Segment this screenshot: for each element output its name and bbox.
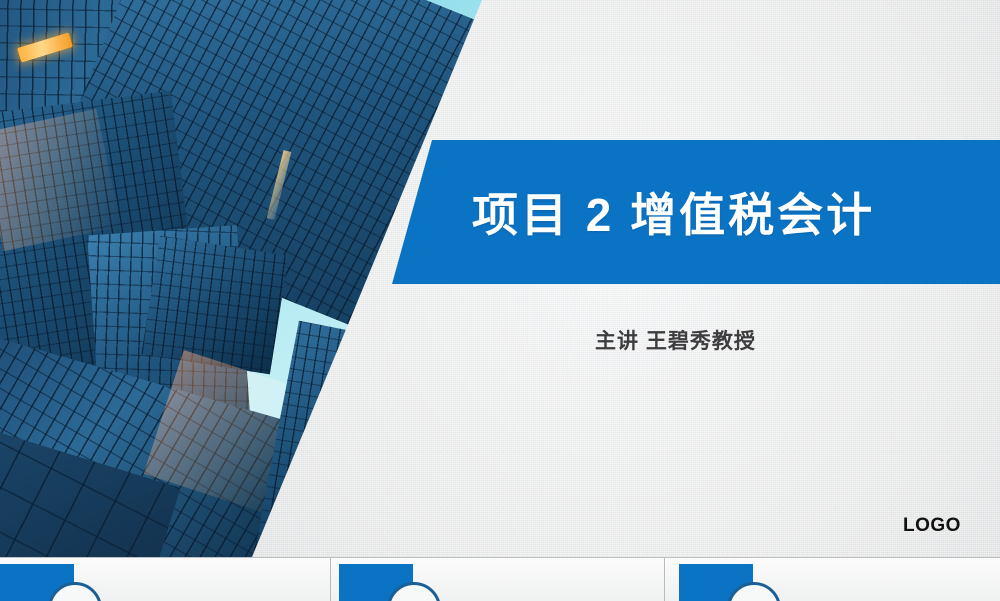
- slide-title: 项目 2 增值税会计: [472, 179, 875, 245]
- slide-thumbnail-1[interactable]: [0, 558, 331, 601]
- logo-placeholder: LOGO: [903, 515, 961, 537]
- tower-right-mid: [141, 236, 288, 375]
- title-banner: 项目 2 增值税会计: [392, 140, 1000, 284]
- slide-thumbnail-strip[interactable]: [0, 557, 1000, 601]
- slide-thumbnail-2[interactable]: [331, 558, 666, 601]
- slide-subtitle: 主讲 王碧秀教授: [595, 325, 756, 355]
- presentation-slide[interactable]: 项目 2 增值税会计 主讲 王碧秀教授 LOGO: [0, 0, 1000, 557]
- slide-thumbnail-3[interactable]: [665, 558, 1000, 601]
